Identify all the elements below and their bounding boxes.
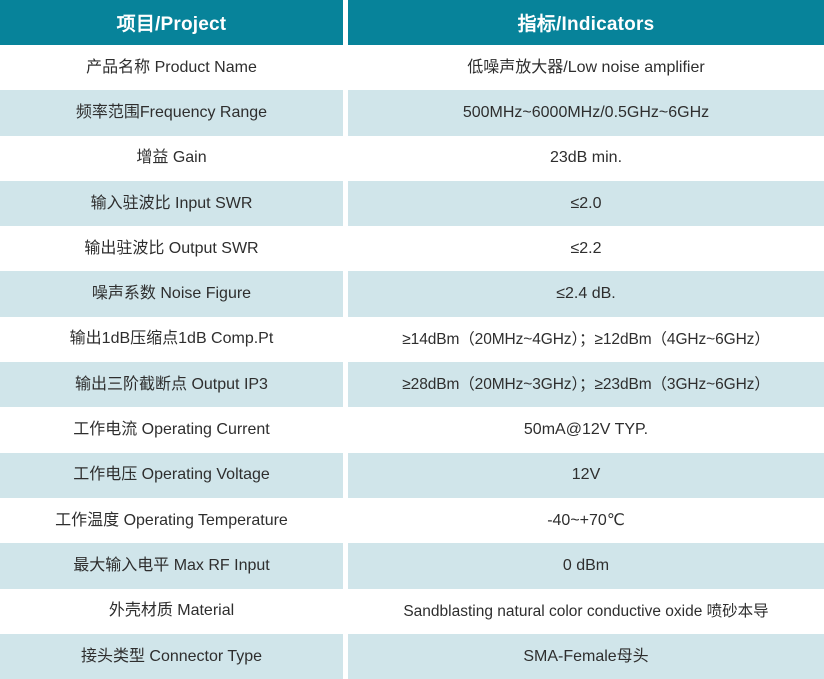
cell-indicator: SMA-Female母头 (348, 634, 824, 679)
cell-indicator: 12V (348, 453, 824, 498)
table-row: 噪声系数 Noise Figure≤2.4 dB. (0, 271, 824, 316)
cell-project: 频率范围Frequency Range (0, 90, 348, 135)
cell-project: 输出1dB压缩点1dB Comp.Pt (0, 317, 348, 362)
cell-project: 最大输入电平 Max RF Input (0, 543, 348, 588)
table-row: 输出1dB压缩点1dB Comp.Pt≥14dBm（20MHz~4GHz）；≥1… (0, 317, 824, 362)
cell-indicator: 0 dBm (348, 543, 824, 588)
table-row: 工作电压 Operating Voltage12V (0, 453, 824, 498)
table-body: 产品名称 Product Name低噪声放大器/Low noise amplif… (0, 45, 824, 679)
cell-project: 接头类型 Connector Type (0, 634, 348, 679)
cell-project: 工作电压 Operating Voltage (0, 453, 348, 498)
table-row: 工作电流 Operating Current50mA@12V TYP. (0, 407, 824, 452)
table-row: 最大输入电平 Max RF Input0 dBm (0, 543, 824, 588)
cell-indicator: ≤2.2 (348, 226, 824, 271)
cell-indicator: Sandblasting natural color conductive ox… (348, 589, 824, 634)
table-row: 输出三阶截断点 Output IP3≥28dBm（20MHz~3GHz）；≥23… (0, 362, 824, 407)
table-row: 工作温度 Operating Temperature-40~+70℃ (0, 498, 824, 543)
table-row: 频率范围Frequency Range500MHz~6000MHz/0.5GHz… (0, 90, 824, 135)
table-row: 接头类型 Connector TypeSMA-Female母头 (0, 634, 824, 679)
cell-indicator: 500MHz~6000MHz/0.5GHz~6GHz (348, 90, 824, 135)
cell-project: 输出三阶截断点 Output IP3 (0, 362, 348, 407)
column-header-indicators: 指标/Indicators (348, 0, 824, 45)
cell-project: 增益 Gain (0, 136, 348, 181)
column-header-project: 项目/Project (0, 0, 348, 45)
cell-project: 外壳材质 Material (0, 589, 348, 634)
cell-indicator: ≥14dBm（20MHz~4GHz）；≥12dBm（4GHz~6GHz） (348, 317, 824, 362)
table-row: 外壳材质 MaterialSandblasting natural color … (0, 589, 824, 634)
cell-project: 工作温度 Operating Temperature (0, 498, 348, 543)
cell-project: 噪声系数 Noise Figure (0, 271, 348, 316)
table-header: 项目/Project 指标/Indicators (0, 0, 824, 45)
cell-indicator: -40~+70℃ (348, 498, 824, 543)
cell-project: 输入驻波比 Input SWR (0, 181, 348, 226)
cell-project: 产品名称 Product Name (0, 45, 348, 90)
cell-indicator: 50mA@12V TYP. (348, 407, 824, 452)
table-row: 输入驻波比 Input SWR≤2.0 (0, 181, 824, 226)
table-row: 输出驻波比 Output SWR≤2.2 (0, 226, 824, 271)
cell-indicator: ≥28dBm（20MHz~3GHz）；≥23dBm（3GHz~6GHz） (348, 362, 824, 407)
header-row: 项目/Project 指标/Indicators (0, 0, 824, 45)
cell-indicator: 低噪声放大器/Low noise amplifier (348, 45, 824, 90)
cell-indicator: 23dB min. (348, 136, 824, 181)
cell-indicator: ≤2.4 dB. (348, 271, 824, 316)
cell-project: 工作电流 Operating Current (0, 407, 348, 452)
table-row: 产品名称 Product Name低噪声放大器/Low noise amplif… (0, 45, 824, 90)
cell-project: 输出驻波比 Output SWR (0, 226, 348, 271)
cell-indicator: ≤2.0 (348, 181, 824, 226)
table-row: 增益 Gain23dB min. (0, 136, 824, 181)
specification-table: 项目/Project 指标/Indicators 产品名称 Product Na… (0, 0, 824, 679)
